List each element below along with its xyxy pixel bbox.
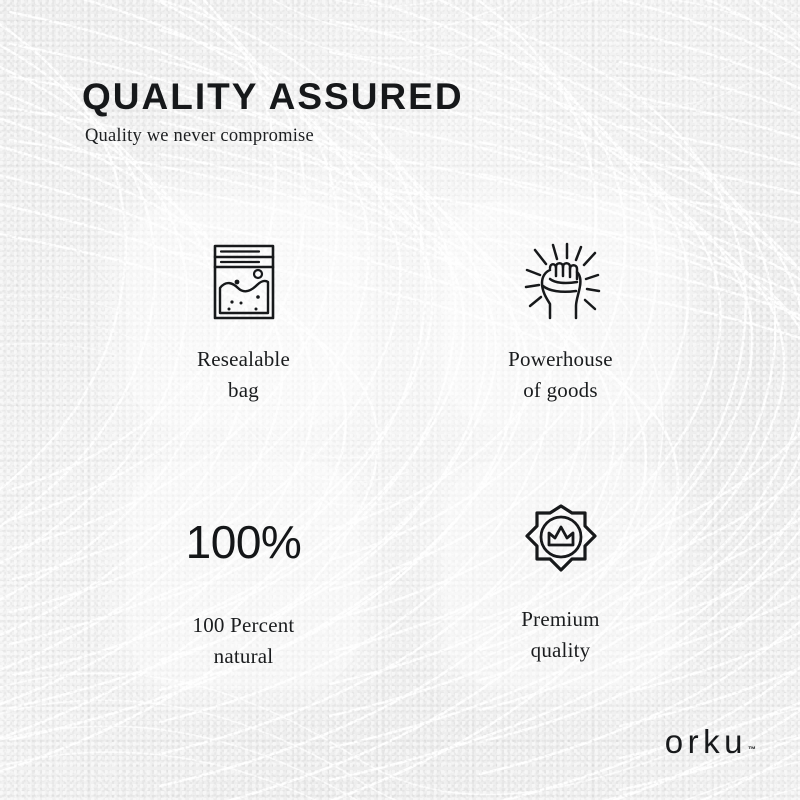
feature-label: Powerhouse of goods bbox=[508, 344, 613, 406]
feature-label: Resealable bag bbox=[197, 344, 290, 406]
page-subtitle: Quality we never compromise bbox=[85, 127, 464, 146]
feature-label-line: Resealable bbox=[197, 347, 290, 371]
brand-logo: orku ™ bbox=[665, 725, 756, 758]
resealable-bag-icon bbox=[211, 234, 277, 330]
crown-badge-icon bbox=[521, 494, 601, 590]
feature-label-line: 100 Percent bbox=[193, 613, 295, 637]
brand-name: orku bbox=[665, 725, 747, 758]
percent-value: 100% bbox=[186, 519, 302, 565]
feature-grid: Resealable bag bbox=[128, 200, 676, 688]
promo-canvas: QUALITY ASSURED Quality we never comprom… bbox=[0, 0, 800, 800]
feature-label-line: Premium bbox=[521, 607, 599, 631]
page-title: QUALITY ASSURED bbox=[82, 78, 464, 115]
feature-label-line: natural bbox=[214, 644, 274, 668]
feature-label: 100 Percent natural bbox=[193, 610, 295, 672]
trademark-symbol: ™ bbox=[748, 746, 756, 754]
heading-block: QUALITY ASSURED Quality we never comprom… bbox=[82, 78, 464, 146]
feature-card-premium-quality: Premium quality bbox=[445, 460, 676, 688]
feature-label-line: quality bbox=[531, 638, 591, 662]
feature-card-powerhouse: Powerhouse of goods bbox=[445, 200, 676, 428]
percent-100-text: 100% bbox=[186, 494, 302, 590]
feature-label-line: Powerhouse bbox=[508, 347, 613, 371]
feature-label: Premium quality bbox=[521, 604, 599, 666]
raised-fist-icon bbox=[519, 234, 603, 330]
feature-card-resealable-bag: Resealable bag bbox=[128, 200, 359, 428]
feature-label-line: of goods bbox=[523, 378, 598, 402]
feature-card-100-percent-natural: 100% 100 Percent natural bbox=[128, 460, 359, 688]
feature-label-line: bag bbox=[228, 378, 259, 402]
